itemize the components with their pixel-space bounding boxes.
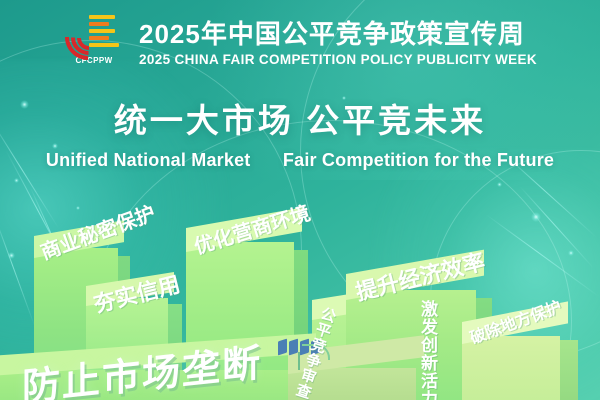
header-title-block: 2025年中国公平竞争政策宣传周 2025 CHINA FAIR COMPETI… — [139, 20, 537, 69]
solar-panel-icon — [278, 339, 287, 356]
slogan-en-part1: Unified National Market — [46, 150, 251, 170]
slogan-en-part2: Fair Competition for the Future — [283, 150, 554, 170]
solar-panel-icon — [289, 339, 298, 356]
slogan-block: 统一大市场 公平竞未来 Unified National Market Fair… — [0, 100, 600, 171]
slogan-cn: 统一大市场 公平竞未来 — [0, 100, 600, 141]
city-label-innovation: 激发创新活力 — [415, 300, 440, 400]
slogan-en: Unified National Market Fair Competition… — [0, 150, 600, 171]
cfcppw-logo: CFCPPW — [63, 13, 125, 75]
poster-header: CFCPPW 2025年中国公平竞争政策宣传周 2025 CHINA FAIR … — [0, 0, 600, 88]
page-title-en: 2025 CHINA FAIR COMPETITION POLICY PUBLI… — [139, 51, 537, 69]
publicity-week-poster: CFCPPW 2025年中国公平竞争政策宣传周 2025 CHINA FAIR … — [0, 0, 600, 400]
page-title-cn: 2025年中国公平竞争政策宣传周 — [139, 20, 537, 49]
cfcppw-arc-logo — [65, 13, 123, 55]
